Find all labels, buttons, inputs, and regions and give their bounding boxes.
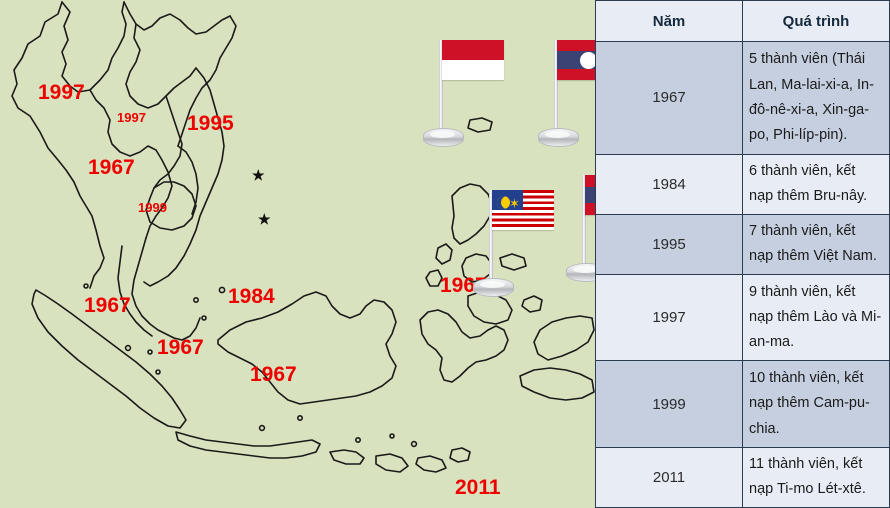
- table-row: 2011 11 thành viên, kết nạp Ti-mo Lét-xt…: [596, 447, 890, 507]
- southeast-asia-map: 1997 1997 1995 1967 1999 1967 1967 1984 …: [0, 0, 595, 508]
- table-row: 1967 5 thành viên (Thái Lan, Ma-lai-xi-a…: [596, 42, 890, 155]
- cell-process: 5 thành viên (Thái Lan, Ma-lai-xi-a, In-…: [743, 42, 890, 155]
- map-year-label-laos: 1997: [117, 111, 146, 124]
- cell-year: 1967: [596, 42, 743, 155]
- laos-flag-cloth: [557, 40, 595, 80]
- map-year-label-brunei: 1984: [228, 286, 275, 307]
- table-header-row: Năm Quá trình: [596, 1, 890, 42]
- cell-year: 1984: [596, 154, 743, 214]
- table-row: 1995 7 thành viên, kết nạp thêm Việt Nam…: [596, 214, 890, 274]
- column-header-process: Quá trình: [743, 1, 890, 42]
- map-year-label-cambodia: 1999: [138, 201, 167, 214]
- cell-year: 1995: [596, 214, 743, 274]
- table-row: 1984 6 thành viên, kết nạp thêm Bru-nây.: [596, 154, 890, 214]
- indonesia-flag-cloth: [442, 40, 504, 80]
- cell-process: 7 thành viên, kết nạp thêm Việt Nam.: [743, 214, 890, 274]
- cell-process: 10 thành viên, kết nạp thêm Cam-pu-chia.: [743, 361, 890, 447]
- partial-flag: [573, 175, 595, 285]
- map-year-label-singapore: 1967: [157, 337, 204, 358]
- asean-timeline-table: Năm Quá trình 1967 5 thành viên (Thái La…: [595, 0, 890, 508]
- laos-flag: [545, 40, 595, 150]
- map-year-label-timor-leste: 2011: [455, 477, 501, 498]
- cell-year: 2011: [596, 447, 743, 507]
- flag-base: [566, 263, 595, 282]
- malaysia-flag-cloth: ✶: [492, 190, 554, 230]
- malaysia-flag: ✶: [480, 190, 570, 300]
- cell-year: 1999: [596, 361, 743, 447]
- map-year-label-myanmar: 1997: [38, 82, 85, 103]
- cell-process: 11 thành viên, kết nạp Ti-mo Lét-xtê.: [743, 447, 890, 507]
- cell-process: 6 thành viên, kết nạp thêm Bru-nây.: [743, 154, 890, 214]
- partial-flag-cloth: [585, 175, 595, 215]
- table-row: 1999 10 thành viên, kết nạp thêm Cam-pu-…: [596, 361, 890, 447]
- cell-year: 1997: [596, 274, 743, 360]
- flag-base: [538, 128, 579, 147]
- map-year-label-malaysia-peninsula: 1967: [84, 295, 131, 316]
- asean-expansion-infographic: 1997 1997 1995 1967 1999 1967 1967 1984 …: [0, 0, 890, 508]
- table-row: 1997 9 thành viên, kết nạp thêm Lào và M…: [596, 274, 890, 360]
- flag-base: [473, 278, 514, 297]
- flag-base: [423, 128, 464, 147]
- star-icon: ★: [252, 168, 265, 182]
- map-year-label-vietnam: 1995: [187, 113, 234, 134]
- column-header-year: Năm: [596, 1, 743, 42]
- map-year-label-indonesia-kalimantan: 1967: [250, 364, 297, 385]
- indonesia-flag: [430, 40, 520, 150]
- star-icon: ★: [258, 212, 271, 226]
- map-year-label-thailand: 1967: [88, 157, 135, 178]
- cell-process: 9 thành viên, kết nạp thêm Lào và Mi-an-…: [743, 274, 890, 360]
